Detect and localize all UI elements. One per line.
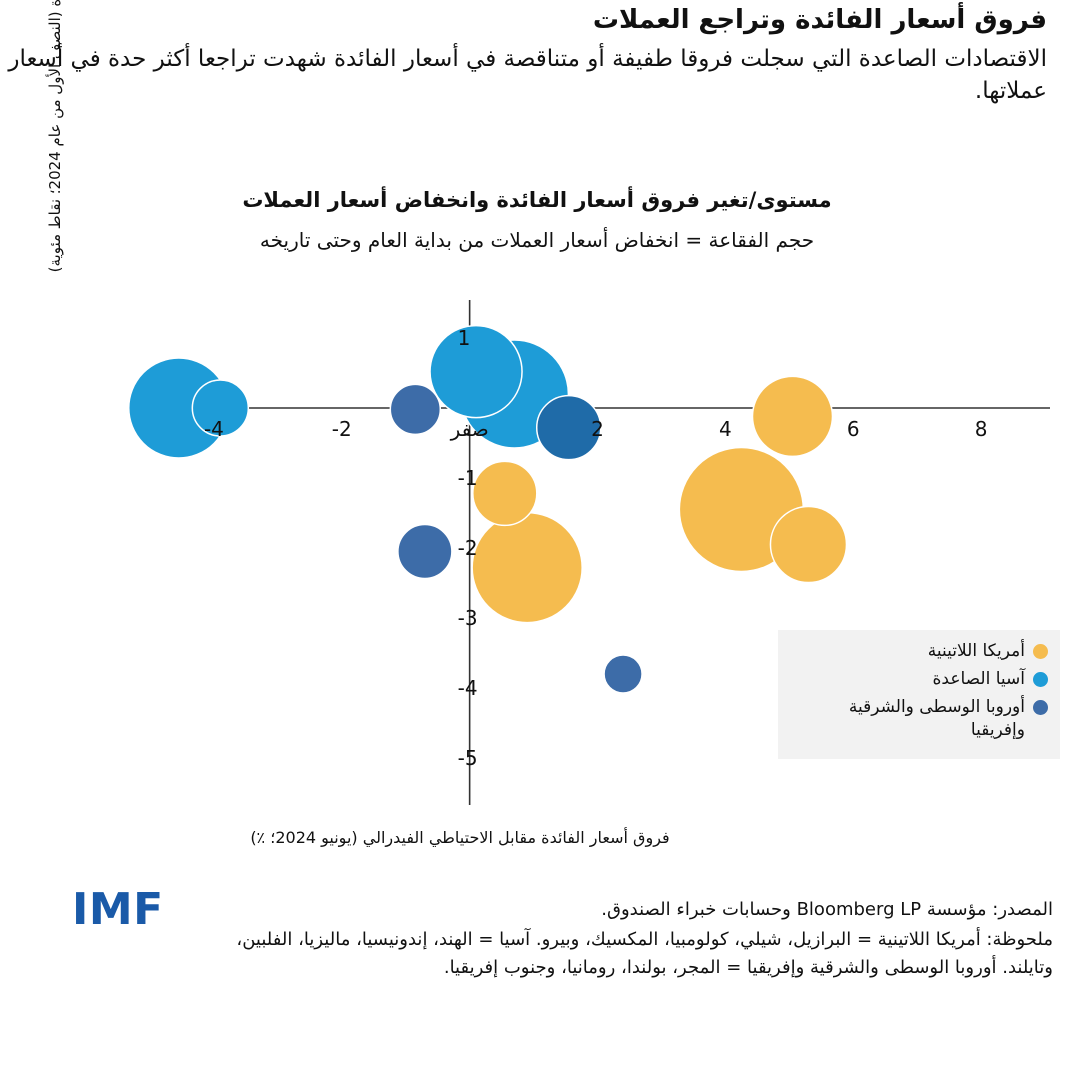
legend-item-cee-africa[interactable]: أوروبا الوسطى والشرقية وإفريقيا xyxy=(790,696,1048,742)
x-tick-label: 2 xyxy=(591,417,604,441)
x-axis-tick-labels: 4-2-صفر2468 xyxy=(204,417,987,441)
y-tick-label: 4- xyxy=(458,676,478,700)
legend-item-label: أمريكا اللاتينية xyxy=(790,640,1025,663)
x-axis-title: فروق أسعار الفائدة مقابل الاحتياطي الفيد… xyxy=(110,828,810,847)
footnotes: المصدر: مؤسسة Bloomberg LP وحسابات خبراء… xyxy=(208,896,1053,982)
x-tick-label: 2- xyxy=(332,417,352,441)
legend-item-label: آسيا الصاعدة xyxy=(790,668,1025,691)
legend-item-emerging-asia[interactable]: آسيا الصاعدة xyxy=(790,668,1048,691)
x-tick-label: 6 xyxy=(847,417,860,441)
y-tick-label: 5- xyxy=(458,746,478,770)
legend-item-label: أوروبا الوسطى والشرقية وإفريقيا xyxy=(790,696,1025,742)
bubble-point xyxy=(472,513,582,623)
y-tick-label: 1- xyxy=(458,466,478,490)
x-tick-label: 8 xyxy=(975,417,988,441)
x-tick-label: صفر xyxy=(450,417,489,441)
legend-swatch-icon xyxy=(1033,644,1048,659)
bubble-point xyxy=(604,655,642,693)
bubble-point xyxy=(752,376,832,456)
chart-subtitle: حجم الفقاعة = انخفاض أسعار العملات من بد… xyxy=(27,228,1047,252)
bubble-point xyxy=(430,326,522,418)
source-line: المصدر: مؤسسة Bloomberg LP وحسابات خبراء… xyxy=(208,896,1053,924)
y-tick-label: 2- xyxy=(458,536,478,560)
note-line: ملحوظة: أمريكا اللاتينية = البرازيل، شيل… xyxy=(208,926,1053,982)
page-title: فروق أسعار الفائدة وتراجع العملات xyxy=(0,4,1073,37)
bubble-point xyxy=(398,525,452,579)
bubble-point xyxy=(390,384,440,434)
chart-panel: مستوى/تغير فروق أسعار الفائدة وانخفاض أس… xyxy=(0,180,1073,880)
imf-logo: IMF xyxy=(72,884,164,935)
x-tick-label: 4 xyxy=(719,417,732,441)
x-tick-label: 4- xyxy=(204,417,224,441)
bubble-point xyxy=(473,461,537,525)
legend-swatch-icon xyxy=(1033,700,1048,715)
legend-swatch-icon xyxy=(1033,672,1048,687)
y-tick-label: 3- xyxy=(458,606,478,630)
chart-title: مستوى/تغير فروق أسعار الفائدة وانخفاض أس… xyxy=(27,188,1047,212)
bubble-point xyxy=(770,507,846,583)
y-tick-label: 1 xyxy=(458,326,471,350)
chart-legend: أمريكا اللاتينية آسيا الصاعدة أوروبا الو… xyxy=(778,630,1060,759)
page-subtitle: الاقتصادات الصاعدة التي سجلت فروقا طفيفة… xyxy=(0,43,1073,108)
header-block: فروق أسعار الفائدة وتراجع العملات الاقتص… xyxy=(0,0,1073,108)
legend-item-latin-america[interactable]: أمريكا اللاتينية xyxy=(790,640,1048,663)
bubble-series xyxy=(129,326,847,693)
y-axis-title: التغير في فروق أسعار الفائدة (النصف الأو… xyxy=(46,0,74,328)
